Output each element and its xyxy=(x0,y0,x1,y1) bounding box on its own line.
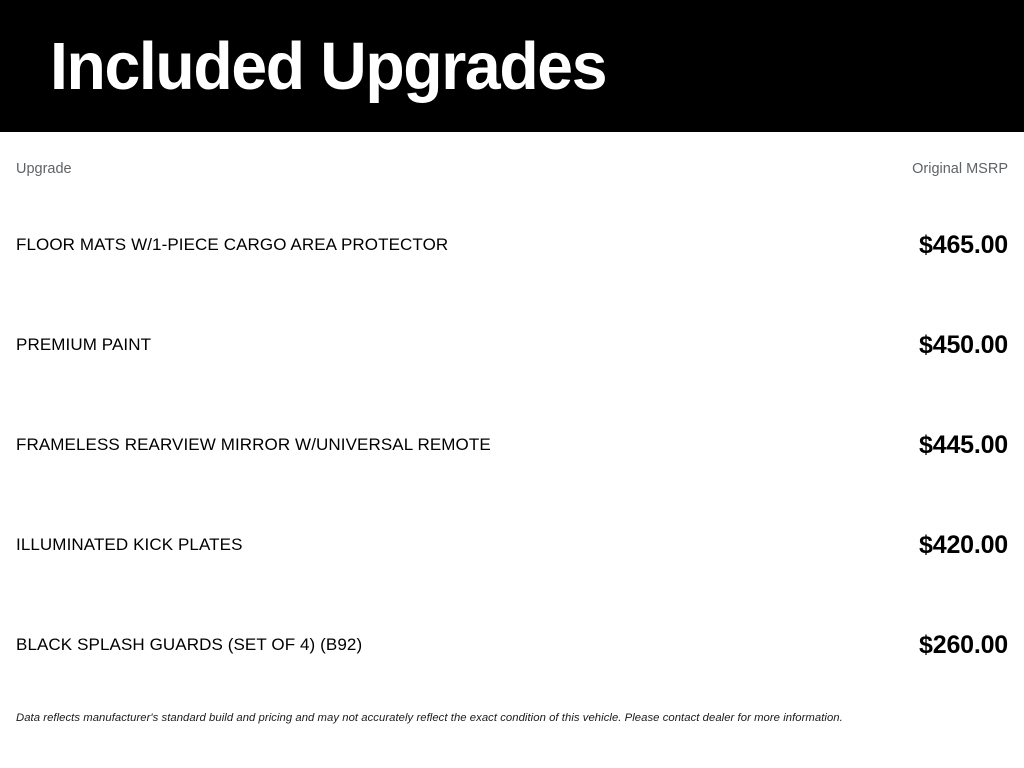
upgrade-name: BLACK SPLASH GUARDS (SET OF 4) (B92) xyxy=(16,634,362,657)
upgrade-price: $445.00 xyxy=(919,433,1008,458)
upgrade-price: $465.00 xyxy=(919,233,1008,258)
table-row: BLACK SPLASH GUARDS (SET OF 4) (B92) $26… xyxy=(16,596,1008,696)
included-upgrades-page: Included Upgrades Upgrade Original MSRP … xyxy=(0,0,1024,768)
upgrade-name: FLOOR MATS W/1-PIECE CARGO AREA PROTECTO… xyxy=(16,234,448,257)
upgrade-price: $420.00 xyxy=(919,533,1008,558)
page-title: Included Upgrades xyxy=(50,33,606,100)
upgrade-price: $260.00 xyxy=(919,633,1008,658)
table-body: FLOOR MATS W/1-PIECE CARGO AREA PROTECTO… xyxy=(16,196,1008,696)
table-row: FRAMELESS REARVIEW MIRROR W/UNIVERSAL RE… xyxy=(16,396,1008,496)
column-header-original-msrp: Original MSRP xyxy=(912,162,1008,177)
upgrade-name: PREMIUM PAINT xyxy=(16,334,151,357)
column-header-upgrade: Upgrade xyxy=(16,162,72,177)
disclaimer-text: Data reflects manufacturer's standard bu… xyxy=(16,711,1008,726)
page-footer: Data reflects manufacturer's standard bu… xyxy=(0,711,1024,726)
upgrades-table: Upgrade Original MSRP FLOOR MATS W/1-PIE… xyxy=(0,132,1024,711)
table-row: FLOOR MATS W/1-PIECE CARGO AREA PROTECTO… xyxy=(16,196,1008,296)
upgrade-price: $450.00 xyxy=(919,333,1008,358)
table-row: PREMIUM PAINT $450.00 xyxy=(16,296,1008,396)
page-banner: Included Upgrades xyxy=(0,0,1024,132)
table-row: ILLUMINATED KICK PLATES $420.00 xyxy=(16,496,1008,596)
table-column-headers: Upgrade Original MSRP xyxy=(16,132,1008,177)
upgrade-name: ILLUMINATED KICK PLATES xyxy=(16,534,243,557)
upgrade-name: FRAMELESS REARVIEW MIRROR W/UNIVERSAL RE… xyxy=(16,434,491,457)
